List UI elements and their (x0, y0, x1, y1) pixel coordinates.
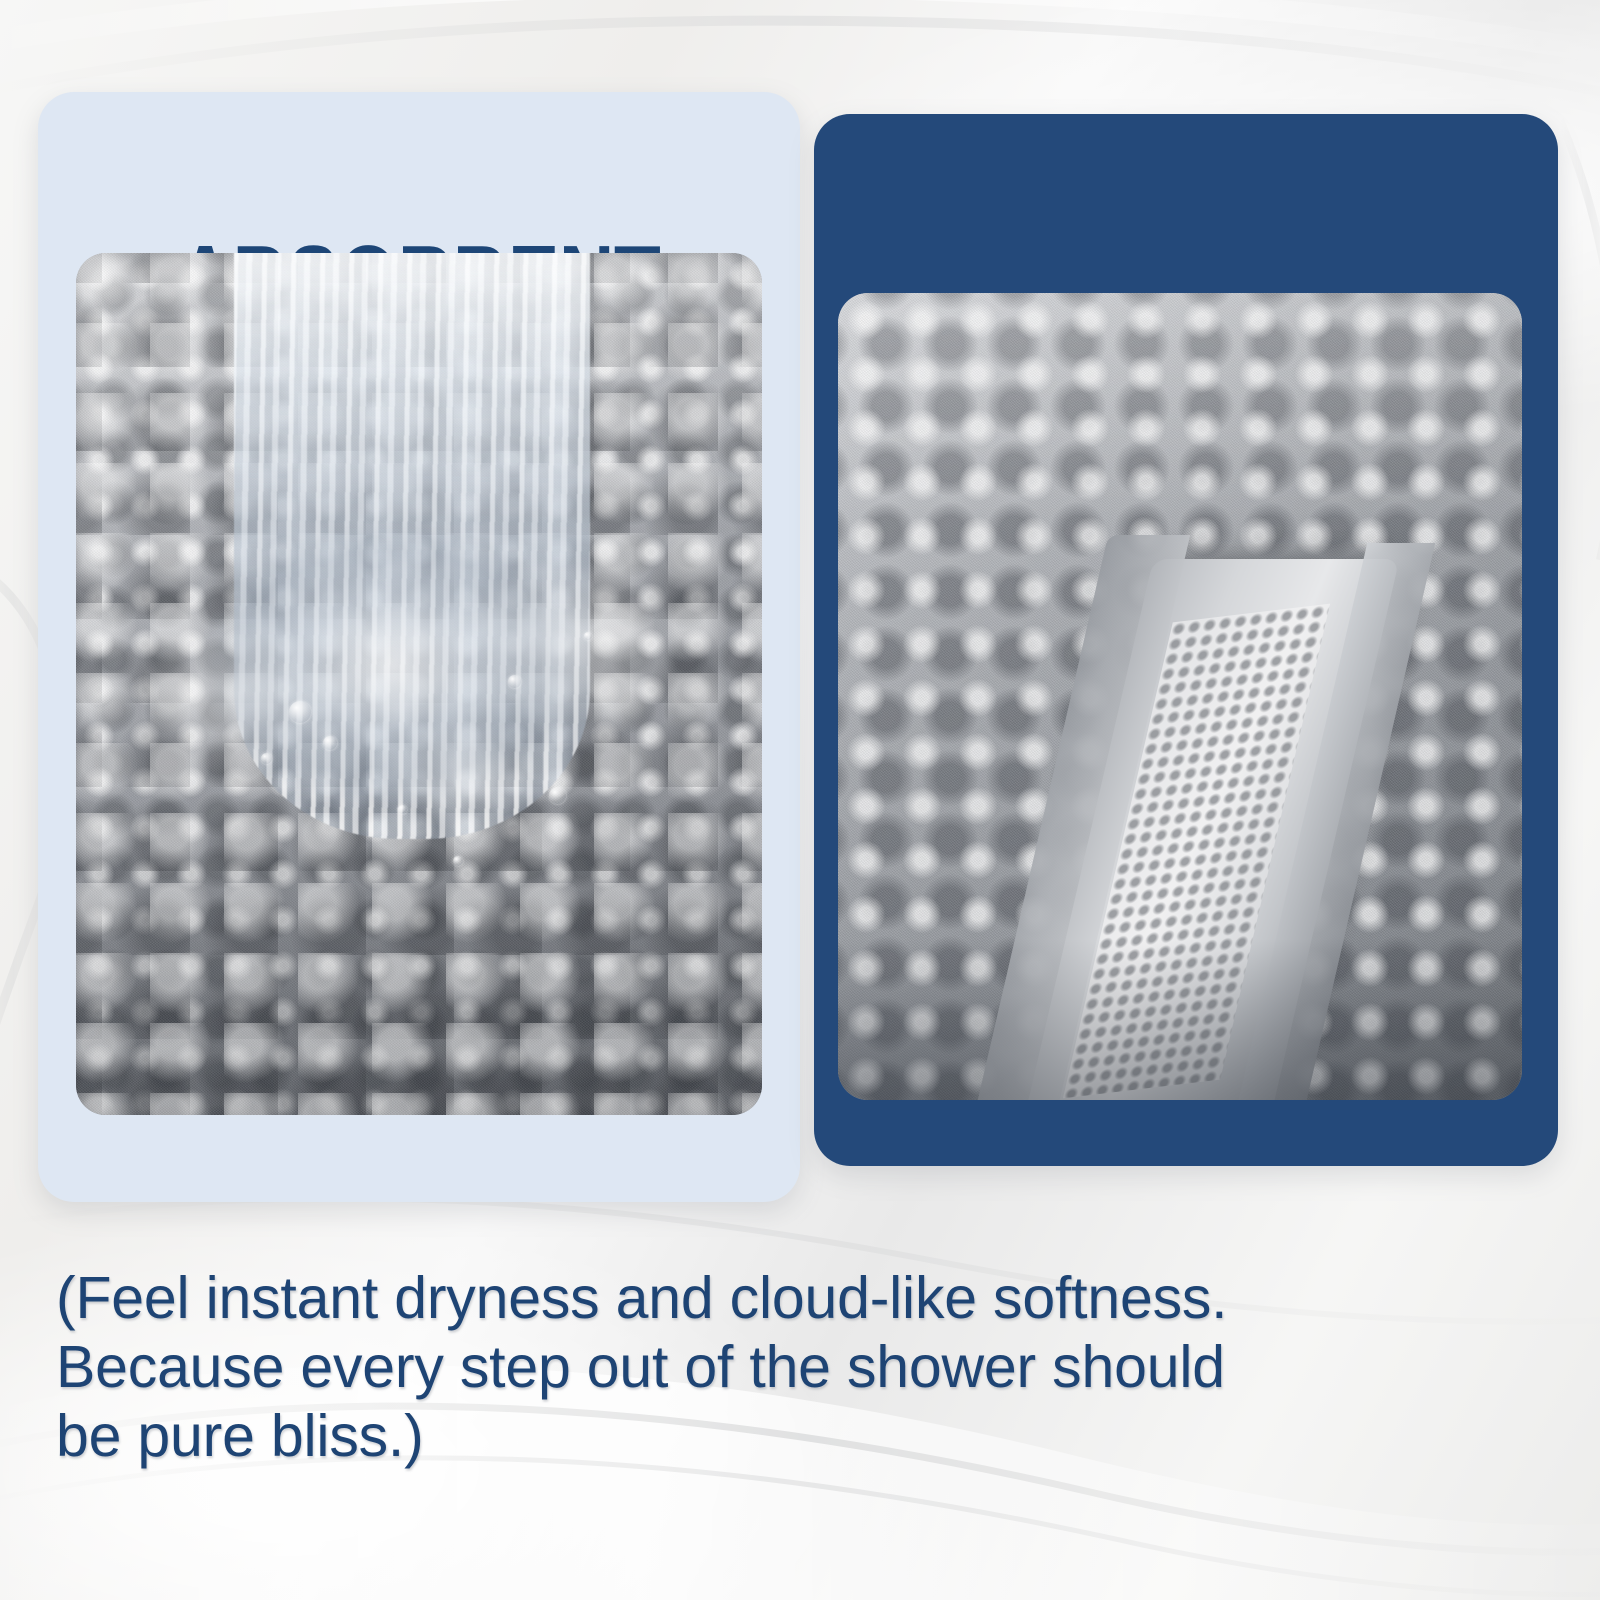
photo-floor-shadow (838, 939, 1522, 1100)
caption-line-1: (Feel instant dryness and cloud-like sof… (56, 1264, 1516, 1333)
caption-line-3: be pure bliss.) (56, 1402, 1516, 1471)
panel-absorbent: ABSORBENT (38, 92, 800, 1202)
feature-caption: (Feel instant dryness and cloud-like sof… (56, 1264, 1516, 1471)
water-bubbles (76, 253, 762, 1115)
panel-soft-chenille: SOFT CHENILLE (814, 114, 1558, 1166)
caption-line-2: Because every step out of the shower sho… (56, 1333, 1516, 1402)
infographic-canvas: ABSORBENT SOFT CHENILLE (0, 0, 1600, 1600)
soft-chenille-photo (838, 293, 1522, 1100)
absorbent-photo (76, 253, 762, 1115)
